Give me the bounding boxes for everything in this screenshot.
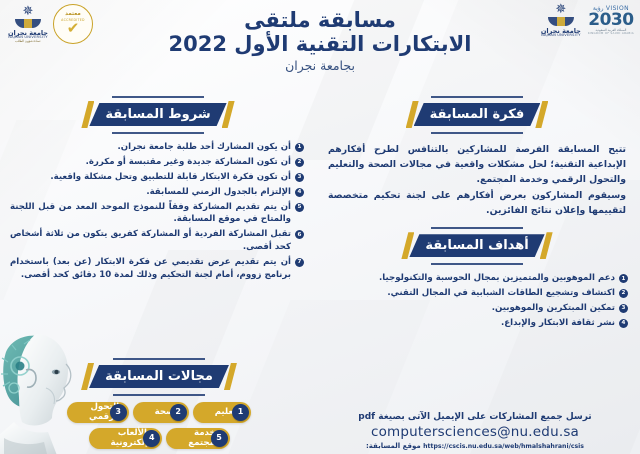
conditions-banner: شروط المسابقة (81, 101, 234, 128)
item-text: تقبل المشاركة الفردية أو المشاركة كفريق … (10, 228, 291, 254)
item-text: أن تكون المشاركة جديدة وغير مقتبسة أو مك… (10, 156, 291, 169)
poster-canvas: معتمد ACCREDITED ✔ ✵ جامعة نجران NAJRAN … (0, 0, 640, 454)
pill-number: 3 (110, 404, 127, 421)
divider (113, 358, 205, 360)
list-item: 4 نشر ثقافة الابتكار والإبداع. (324, 317, 628, 330)
item-text: أن يتم تقديم المشاركة وفقاً للنموذج المو… (10, 201, 291, 227)
item-number: 4 (619, 319, 628, 328)
item-number: 2 (619, 289, 628, 298)
divider (431, 96, 523, 98)
item-number: 3 (295, 173, 304, 182)
list-item: 4 الإلتزام بالجدول الزمني للمسابقة. (10, 186, 304, 199)
item-number: 5 (295, 203, 304, 212)
list-item: 5 أن يتم تقديم المشاركة وفقاً للنموذج ال… (10, 201, 304, 227)
fields-heading: مجالات المسابقة (89, 365, 229, 388)
list-item: 1 أن يكون المشارك أحد طلبة جامعة نجران. (10, 141, 304, 154)
pill-number: 4 (143, 430, 160, 447)
item-text: اكتشاف وتشجيع الطاقات الشبابية في المجال… (324, 287, 615, 300)
idea-paragraphs: تتيح المسابقة الفرصة للمشاركين بالتنافس … (328, 142, 626, 218)
item-text: نشر ثقافة الابتكار والإبداع. (324, 317, 615, 330)
field-pill-health[interactable]: 2 الصحة (133, 402, 189, 423)
divider (113, 394, 205, 396)
objectives-banner: أهداف المسابقة (401, 232, 552, 259)
item-number: 1 (295, 143, 304, 152)
title-line-1: مسابقة ملتقى (0, 8, 640, 32)
title-line-2: الابتكارات التقنية الأول 2022 (0, 32, 640, 56)
site-label: موقع المسابقة: (366, 442, 421, 450)
item-number: 6 (295, 230, 304, 239)
field-pill-community-service[interactable]: 5 خدمة المجتمع (166, 428, 229, 449)
submission-note: ترسل جميع المشاركات على الإيميل الآتى بص… (310, 412, 640, 422)
list-item: 7 أن يتم تقديم عرض تقديمي عن فكرة الابتك… (10, 256, 304, 282)
divider (112, 132, 204, 134)
list-item: 1 دعم الموهوبين والمتميزين بمجال الحوسبة… (324, 272, 628, 285)
fields-banner: مجالات المسابقة (81, 363, 237, 390)
conditions-heading: شروط المسابقة (89, 103, 226, 126)
item-text: أن يتم تقديم عرض تقديمي عن فكرة الابتكار… (10, 256, 291, 282)
divider (431, 227, 523, 229)
conditions-list: 1 أن يكون المشارك أحد طلبة جامعة نجران. … (10, 141, 304, 282)
pill-number: 5 (211, 430, 228, 447)
list-item: 2 أن تكون المشاركة جديدة وغير مقتبسة أو … (10, 156, 304, 169)
divider (431, 132, 523, 134)
item-number: 2 (295, 158, 304, 167)
left-column: شروط المسابقة 1 أن يكون المشارك أحد طلبة… (4, 96, 312, 284)
field-pill-electronic-games[interactable]: 4 الألعاب الإلكترونية (89, 428, 163, 449)
list-item: 6 تقبل المشاركة الفردية أو المشاركة كفري… (10, 228, 304, 254)
divider (112, 96, 204, 98)
field-pill-education[interactable]: 1 التعليم (193, 402, 251, 423)
robot-head-icon (0, 318, 88, 454)
item-text: أن تكون فكرة الابتكار قابلة للتطبيق وتحل… (10, 171, 291, 184)
competition-url[interactable]: https://cscis.nu.edu.sa/web/hmalshahrani… (423, 443, 584, 450)
objectives-section-header: أهداف المسابقة (318, 227, 636, 265)
list-item: 3 أن تكون فكرة الابتكار قابلة للتطبيق وت… (10, 171, 304, 184)
idea-banner: فكرة المسابقة (406, 101, 549, 128)
pill-number: 2 (170, 404, 187, 421)
divider (431, 263, 523, 265)
objectives-list: 1 دعم الموهوبين والمتميزين بمجال الحوسبة… (324, 272, 628, 330)
list-item: 3 تمكين المبتكرين والموهوبين. (324, 302, 628, 315)
contact-email[interactable]: computersciences@nu.edu.sa (310, 424, 640, 440)
title-line-3: بجامعة نجران (0, 57, 640, 75)
list-item: 2 اكتشاف وتشجيع الطاقات الشبابية في المج… (324, 287, 628, 300)
conditions-section-header: شروط المسابقة (4, 96, 312, 134)
item-number: 1 (619, 274, 628, 283)
item-text: الإلتزام بالجدول الزمني للمسابقة. (10, 186, 291, 199)
competition-site-line: https://cscis.nu.edu.sa/web/hmalshahrani… (310, 442, 640, 450)
idea-paragraph: تتيح المسابقة الفرصة للمشاركين بالتنافس … (328, 142, 626, 187)
idea-section-header: فكرة المسابقة (318, 96, 636, 134)
idea-paragraph: وسيقوم المشاركون بعرض أفكارهم على لجنة ت… (328, 188, 626, 218)
item-number: 3 (619, 304, 628, 313)
item-number: 7 (295, 258, 304, 267)
item-text: تمكين المبتكرين والموهوبين. (324, 302, 615, 315)
footer-contact: ترسل جميع المشاركات على الإيميل الآتى بص… (310, 412, 640, 450)
pill-number: 1 (232, 404, 249, 421)
right-column: فكرة المسابقة تتيح المسابقة الفرصة للمشا… (318, 96, 636, 332)
idea-heading: فكرة المسابقة (414, 103, 541, 126)
poster-title: مسابقة ملتقى الابتكارات التقنية الأول 20… (0, 8, 640, 75)
objectives-heading: أهداف المسابقة (409, 234, 544, 257)
item-number: 4 (295, 188, 304, 197)
item-text: دعم الموهوبين والمتميزين بمجال الحوسبة و… (324, 272, 615, 285)
item-text: أن يكون المشارك أحد طلبة جامعة نجران. (10, 141, 291, 154)
